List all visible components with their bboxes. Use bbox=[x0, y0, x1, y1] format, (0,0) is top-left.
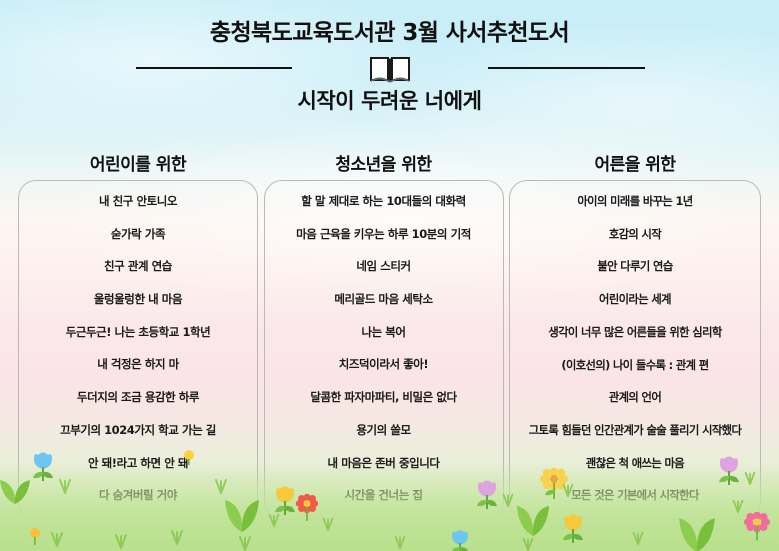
page-subtitle: 시작이 두려운 너에게 bbox=[0, 83, 779, 115]
column-heading-teens: 청소년을 위한 bbox=[264, 150, 504, 172]
list-item: 울렁울렁한 내 마음 bbox=[25, 293, 251, 307]
list-item: 불안 다루기 연습 bbox=[516, 260, 754, 274]
book-list-card-teens: 할 말 제대로 하는 10대들의 대화력 마음 근육을 키우는 하루 10분의 … bbox=[264, 180, 504, 520]
list-item: 끄부기의 1024가지 학교 가는 길 bbox=[25, 424, 251, 438]
list-item: 내 마음은 존버 중입니다 bbox=[271, 457, 497, 471]
list-item: 다 숨겨버릴 거야 bbox=[25, 489, 251, 503]
column-heading-children: 어린이를 위한 bbox=[18, 150, 258, 172]
list-item: 네임 스티커 bbox=[271, 260, 497, 274]
grass-tuft-icon bbox=[168, 528, 186, 546]
column-children: 어린이를 위한 내 친구 안토니오 숟가락 가족 친구 관계 연습 울렁울렁한 … bbox=[18, 150, 258, 520]
list-item: 생각이 너무 많은 어른들을 위한 심리학 bbox=[516, 326, 754, 340]
list-item: 친구 관계 연습 bbox=[25, 260, 251, 274]
list-item: 내 걱정은 하지 마 bbox=[25, 358, 251, 372]
list-item: 어린이라는 세계 bbox=[516, 293, 754, 307]
list-item: 숟가락 가족 bbox=[25, 228, 251, 242]
list-item: 메리골드 마음 세탁소 bbox=[271, 293, 497, 307]
grass-tuft-icon bbox=[392, 534, 408, 550]
book-list-card-adults: 아이의 미래를 바꾸는 1년 호감의 시작 불안 다루기 연습 어린이라는 세계… bbox=[509, 180, 761, 520]
list-item: 관계의 언어 bbox=[516, 391, 754, 405]
list-item: 그토록 힘들던 인간관계가 술술 풀리기 시작했다 bbox=[516, 424, 754, 438]
list-item: 두근두근! 나는 초등학교 1학년 bbox=[25, 326, 251, 340]
column-adults: 어른을 위한 아이의 미래를 바꾸는 1년 호감의 시작 불안 다루기 연습 어… bbox=[509, 150, 761, 520]
list-item: 시간을 건너는 집 bbox=[271, 489, 497, 503]
list-item: 할 말 제대로 하는 10대들의 대화력 bbox=[271, 195, 497, 209]
divider-row bbox=[0, 53, 779, 83]
book-list-card-children: 내 친구 안토니오 숟가락 가족 친구 관계 연습 울렁울렁한 내 마음 두근두… bbox=[18, 180, 258, 520]
grass-tuft-icon bbox=[112, 532, 130, 550]
list-item: 치즈덕이라서 좋아! bbox=[271, 358, 497, 372]
list-item: 용기의 쓸모 bbox=[271, 424, 497, 438]
blue-tulip-icon bbox=[448, 528, 472, 551]
poster-header: 충청북도교육도서관 3월 사서추천도서 시작이 두려운 너에게 bbox=[0, 0, 779, 115]
grass-tuft-icon bbox=[630, 530, 646, 546]
grass-tuft-icon bbox=[520, 536, 536, 551]
list-item: 호감의 시작 bbox=[516, 228, 754, 242]
grass-tuft-icon bbox=[236, 534, 254, 551]
open-book-icon bbox=[367, 54, 413, 84]
divider-line-right bbox=[488, 67, 645, 69]
list-item: 안 돼!라고 하면 안 돼 bbox=[25, 457, 251, 471]
list-item: (이호선의) 나이 들수록 : 관계 편 bbox=[516, 359, 754, 373]
list-item: 괜찮은 척 애쓰는 마음 bbox=[516, 457, 754, 471]
list-item: 달콤한 파자마파티, 비밀은 없다 bbox=[271, 391, 497, 405]
list-item: 모든 것은 기본에서 시작한다 bbox=[516, 489, 754, 503]
recommendation-columns: 어린이를 위한 내 친구 안토니오 숟가락 가족 친구 관계 연습 울렁울렁한 … bbox=[0, 150, 779, 520]
page-title: 충청북도교육도서관 3월 사서추천도서 bbox=[0, 21, 779, 46]
list-item: 나는 복어 bbox=[271, 326, 497, 340]
list-item: 두더지의 조금 용감한 하루 bbox=[25, 391, 251, 405]
list-item: 내 친구 안토니오 bbox=[25, 195, 251, 209]
column-heading-adults: 어른을 위한 bbox=[509, 150, 761, 172]
column-teens: 청소년을 위한 할 말 제대로 하는 10대들의 대화력 마음 근육을 키우는 … bbox=[264, 150, 504, 520]
list-item: 아이의 미래를 바꾸는 1년 bbox=[516, 195, 754, 209]
list-item: 마음 근육을 키우는 하루 10분의 기적 bbox=[271, 228, 497, 242]
yellow-dot-flower-icon bbox=[28, 528, 42, 546]
divider-line-left bbox=[136, 67, 292, 69]
grass-tuft-icon bbox=[48, 530, 66, 548]
poster-canvas: 충청북도교육도서관 3월 사서추천도서 시작이 두려운 너에게 어린이를 위한 … bbox=[0, 0, 779, 551]
